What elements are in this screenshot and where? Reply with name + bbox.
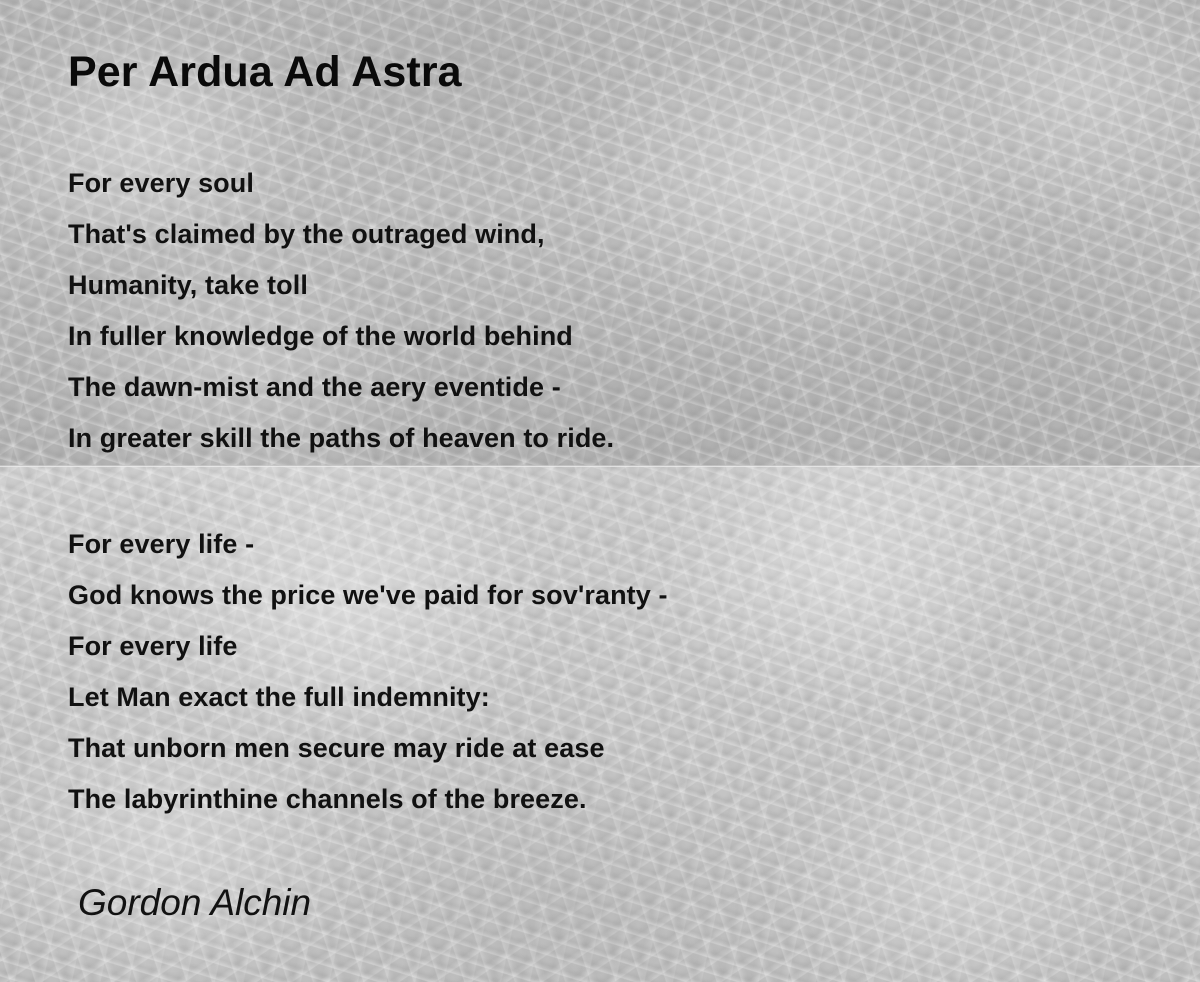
- poem-line: That unborn men secure may ride at ease: [68, 723, 668, 774]
- background-base-texture: [0, 0, 1200, 982]
- poem-stanza-1: For every soul That's claimed by the out…: [68, 158, 614, 464]
- poem-line: God knows the price we've paid for sov'r…: [68, 570, 668, 621]
- poem-line: In greater skill the paths of heaven to …: [68, 413, 614, 464]
- poem-stanza-2: For every life - God knows the price we'…: [68, 519, 668, 825]
- background-swirl-blobs: [0, 0, 1200, 982]
- poem-line: Let Man exact the full indemnity:: [68, 672, 668, 723]
- poem-line: The dawn-mist and the aery eventide -: [68, 362, 614, 413]
- poem-line: Humanity, take toll: [68, 260, 614, 311]
- background-stroke-layer-a: [0, 0, 1200, 982]
- poem-line: The labyrinthine channels of the breeze.: [68, 774, 668, 825]
- poem-line: For every life -: [68, 519, 668, 570]
- background-band-seam: [0, 465, 1200, 467]
- poem-line: In fuller knowledge of the world behind: [68, 311, 614, 362]
- poem-title: Per Ardua Ad Astra: [68, 48, 462, 97]
- poem-author-signature: Gordon Alchin: [78, 882, 311, 924]
- poem-line: For every life: [68, 621, 668, 672]
- poem-line: For every soul: [68, 158, 614, 209]
- poem-image-card: Per Ardua Ad Astra For every soul That's…: [0, 0, 1200, 982]
- poem-line: That's claimed by the outraged wind,: [68, 209, 614, 260]
- background-stroke-layer-b: [0, 0, 1200, 982]
